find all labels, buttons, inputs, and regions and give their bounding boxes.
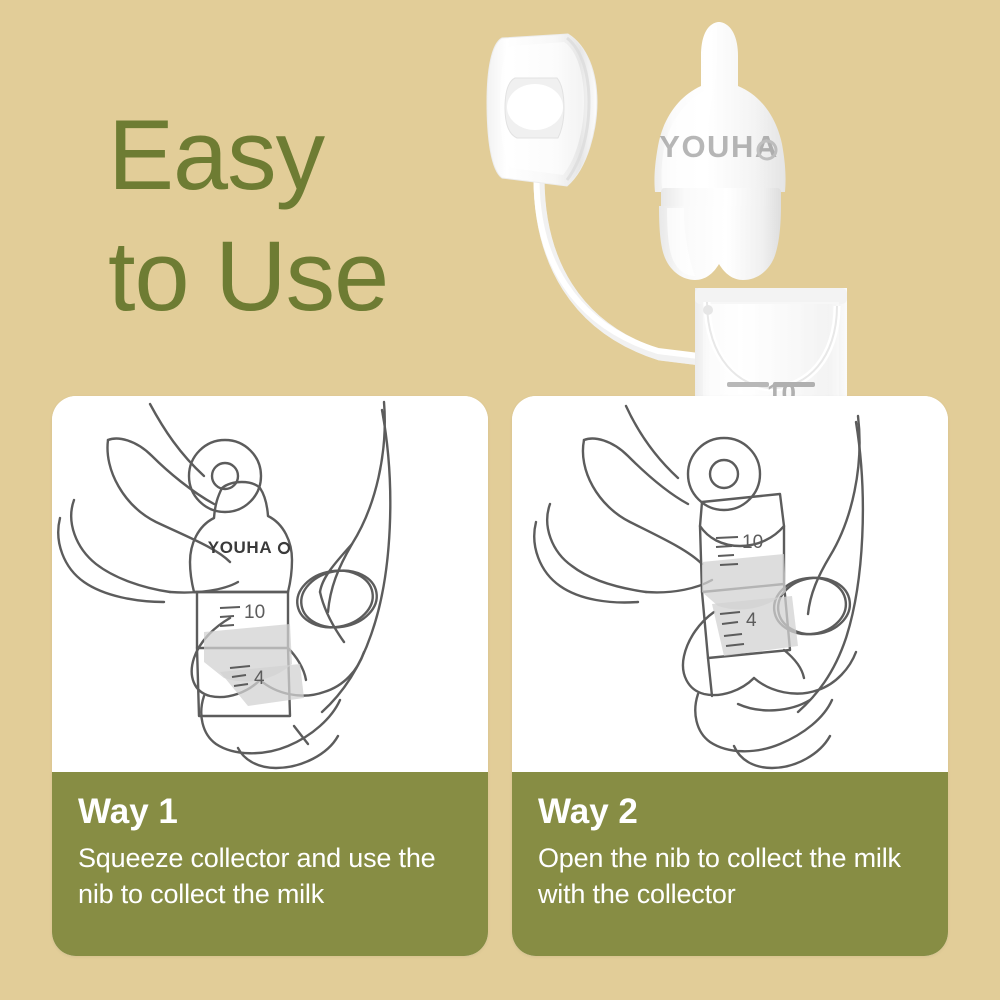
- card-way-1[interactable]: 10 4 YOUHA Way 1 Sque: [52, 396, 488, 956]
- card-way-2[interactable]: 10 4 Way 2 Open the nib to collect the m…: [512, 396, 948, 956]
- illustration-way-1: 10 4 YOUHA: [52, 396, 488, 772]
- hero-product-illustration: YOUHA 10: [455, 10, 1000, 410]
- youha-logo-icon: YOUHA: [208, 538, 289, 557]
- way-description: Open the nib to collect the milk with th…: [538, 841, 922, 913]
- silicone-nib-icon: YOUHA: [654, 22, 785, 280]
- svg-text:YOUHA: YOUHA: [659, 129, 778, 164]
- illustration-way-2: 10 4: [512, 396, 948, 772]
- scale-label-10: 10: [742, 532, 763, 553]
- page-title: Easy to Use: [108, 95, 388, 337]
- scale-label-4: 4: [746, 610, 757, 631]
- svg-text:YOUHA: YOUHA: [208, 538, 272, 557]
- way-title: Way 1: [78, 794, 462, 831]
- card-footer-way-2: Way 2 Open the nib to collect the milk w…: [512, 772, 948, 956]
- youha-logo-icon: YOUHA: [659, 129, 778, 164]
- scale-label-4: 4: [254, 668, 265, 689]
- way-description: Squeeze collector and use the nib to col…: [78, 841, 462, 913]
- way-title: Way 2: [538, 794, 922, 831]
- flange-cap-icon: [487, 34, 597, 186]
- instruction-cards: 10 4 YOUHA Way 1 Sque: [0, 396, 1000, 958]
- scale-label-10: 10: [244, 602, 265, 623]
- poster-canvas: Easy to Use: [0, 0, 1000, 1000]
- card-footer-way-1: Way 1 Squeeze collector and use the nib …: [52, 772, 488, 956]
- milk-collector-bottle-icon: 10: [695, 288, 847, 410]
